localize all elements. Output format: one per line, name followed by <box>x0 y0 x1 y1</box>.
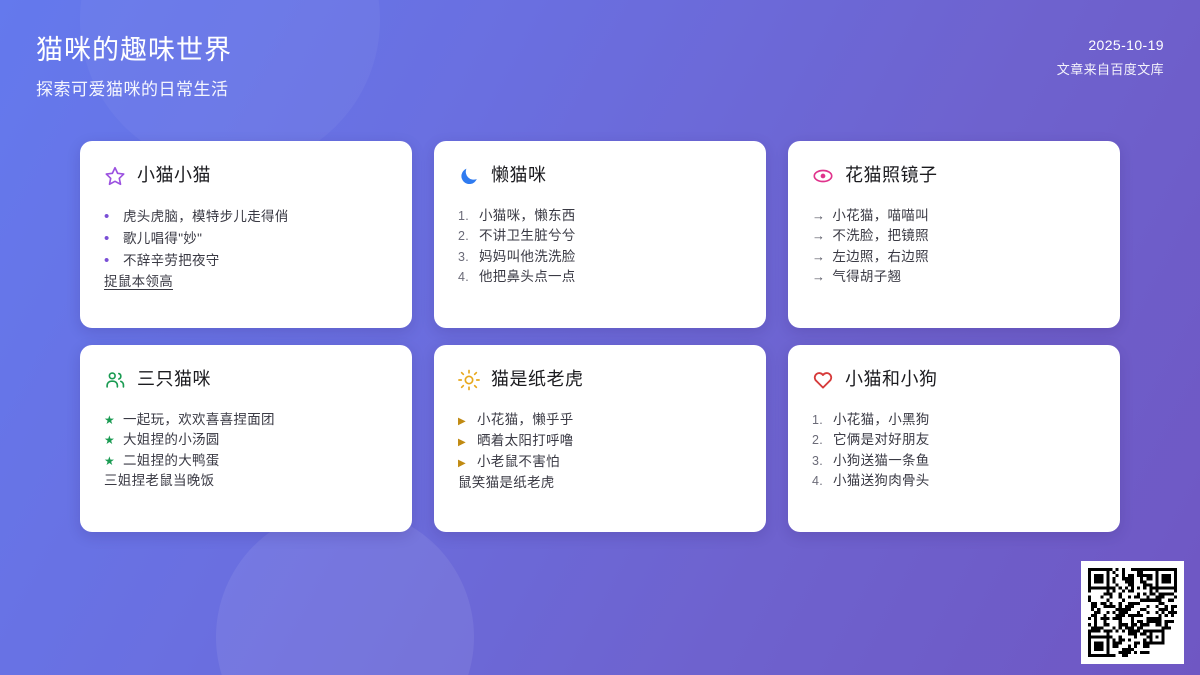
header-title-block: 猫咪的趣味世界 探索可爱猫咪的日常生活 <box>36 32 232 102</box>
list-item-text: 歌儿唱得"妙" <box>123 232 202 246</box>
card-header: 三只猫咪 <box>104 367 388 393</box>
star-icon <box>104 165 126 187</box>
list-marker: ▶ <box>458 438 470 448</box>
list-marker: ★ <box>104 434 116 446</box>
list-item: 4. 小猫送狗肉骨头 <box>812 471 1096 492</box>
moon-icon <box>458 165 480 187</box>
list-item: 1. 小花猫，小黑狗 <box>812 409 1096 430</box>
list-item-text: 小花猫，小黑狗 <box>833 413 930 427</box>
list-item: → 不洗脸，把镜照 <box>812 226 1096 247</box>
list-marker: • <box>104 209 116 224</box>
card-title: 花猫照镜子 <box>845 165 938 187</box>
card-header: 猫是纸老虎 <box>458 367 742 393</box>
list-marker: 3. <box>458 251 472 264</box>
list-marker: → <box>812 229 825 242</box>
list-item-text: 二姐捏的大鸭蛋 <box>123 454 220 468</box>
list-marker: 4. <box>458 271 472 284</box>
list-item-text: 大姐捏的小汤圆 <box>123 433 220 447</box>
list-item: • 虎头虎脑，模特步儿走得俏 <box>104 205 388 227</box>
list-item-text: 小老鼠不害怕 <box>477 455 560 469</box>
card-title: 猫是纸老虎 <box>491 369 584 391</box>
list-marker: → <box>812 209 825 222</box>
list-marker: → <box>812 250 825 263</box>
card-list: • 虎头虎脑，模特步儿走得俏 • 歌儿唱得"妙" • 不辞辛劳把夜守 <box>104 205 388 271</box>
list-marker: 3. <box>812 455 826 468</box>
list-item-text: 小狗送猫一条鱼 <box>833 454 930 468</box>
list-item-text: 小猫送狗肉骨头 <box>833 474 930 488</box>
list-item: → 气得胡子翘 <box>812 267 1096 288</box>
list-marker: 2. <box>812 434 826 447</box>
list-item-text: 不辞辛劳把夜守 <box>123 254 220 268</box>
card-list: ▶ 小花猫，懒乎乎 ▶ 晒着太阳打呼噜 ▶ 小老鼠不害怕 <box>458 409 742 472</box>
card-list: 1. 小花猫，小黑狗 2. 它俩是对好朋友 3. 小狗送猫一条鱼 4. 小猫送狗… <box>812 409 1096 491</box>
content-card[interactable]: 小猫和小狗 1. 小花猫，小黑狗 2. 它俩是对好朋友 3. 小狗送猫一条鱼 4… <box>788 345 1120 532</box>
list-item: 3. 小狗送猫一条鱼 <box>812 450 1096 471</box>
card-footer-text: 三姐捏老鼠当晚饭 <box>104 471 214 488</box>
list-item-text: 晒着太阳打呼噜 <box>477 434 574 448</box>
list-item: 1. 小猫咪，懒东西 <box>458 205 742 226</box>
list-item-text: 它俩是对好朋友 <box>833 433 930 447</box>
card-title: 三只猫咪 <box>137 369 211 391</box>
content-card[interactable]: 懒猫咪 1. 小猫咪，懒东西 2. 不讲卫生脏兮兮 3. 妈妈叫他洗洗脸 4. … <box>434 141 766 328</box>
list-item: ★ 一起玩，欢欢喜喜捏面团 <box>104 409 388 430</box>
list-item-text: 小花猫，懒乎乎 <box>477 413 574 427</box>
list-item: ▶ 小老鼠不害怕 <box>458 451 742 472</box>
list-item-text: 气得胡子翘 <box>832 270 901 284</box>
sun-icon <box>458 369 480 391</box>
list-item: → 左边照，右边照 <box>812 246 1096 267</box>
list-marker: • <box>104 253 116 268</box>
list-item: ★ 大姐捏的小汤圆 <box>104 430 388 451</box>
list-item-text: 不洗脸，把镜照 <box>832 229 929 243</box>
list-marker: 2. <box>458 230 472 243</box>
list-marker: ★ <box>104 414 116 426</box>
header-meta-block: 2025-10-19 文章来自百度文库 <box>1057 32 1164 80</box>
list-item-text: 左边照，右边照 <box>832 250 929 264</box>
card-grid: 小猫小猫 • 虎头虎脑，模特步儿走得俏 • 歌儿唱得"妙" • 不辞辛劳把夜守 … <box>80 141 1120 532</box>
list-marker: 1. <box>812 414 826 427</box>
list-item-text: 虎头虎脑，模特步儿走得俏 <box>123 210 289 224</box>
page-title: 猫咪的趣味世界 <box>36 32 232 68</box>
list-item: • 不辞辛劳把夜守 <box>104 249 388 271</box>
card-footer-text: 鼠笑猫是纸老虎 <box>458 472 555 489</box>
list-item-text: 他把鼻头点一点 <box>479 270 576 284</box>
card-header: 小猫小猫 <box>104 163 388 189</box>
card-list: → 小花猫，喵喵叫 → 不洗脸，把镜照 → 左边照，右边照 → 气得胡子翘 <box>812 205 1096 287</box>
list-marker: 1. <box>458 210 472 223</box>
list-marker: ▶ <box>458 417 470 427</box>
card-header: 花猫照镜子 <box>812 163 1096 189</box>
list-item: 3. 妈妈叫他洗洗脸 <box>458 246 742 267</box>
content-card[interactable]: 三只猫咪 ★ 一起玩，欢欢喜喜捏面团 ★ 大姐捏的小汤圆 ★ 二姐捏的大鸭蛋 三… <box>80 345 412 532</box>
header-date: 2025-10-19 <box>1088 35 1164 56</box>
page-subtitle: 探索可爱猫咪的日常生活 <box>36 78 232 102</box>
content-card[interactable]: 花猫照镜子 → 小花猫，喵喵叫 → 不洗脸，把镜照 → 左边照，右边照 → 气得… <box>788 141 1120 328</box>
page-header: 猫咪的趣味世界 探索可爱猫咪的日常生活 2025-10-19 文章来自百度文库 <box>0 0 1200 136</box>
card-header: 懒猫咪 <box>458 163 742 189</box>
content-card[interactable]: 猫是纸老虎 ▶ 小花猫，懒乎乎 ▶ 晒着太阳打呼噜 ▶ 小老鼠不害怕 鼠笑猫是纸… <box>434 345 766 532</box>
eye-icon <box>812 165 834 187</box>
qr-code-image <box>1088 568 1177 657</box>
list-item-text: 不讲卫生脏兮兮 <box>479 229 576 243</box>
list-item: ▶ 小花猫，懒乎乎 <box>458 409 742 430</box>
content-card[interactable]: 小猫小猫 • 虎头虎脑，模特步儿走得俏 • 歌儿唱得"妙" • 不辞辛劳把夜守 … <box>80 141 412 328</box>
list-item: ▶ 晒着太阳打呼噜 <box>458 430 742 451</box>
card-list: 1. 小猫咪，懒东西 2. 不讲卫生脏兮兮 3. 妈妈叫他洗洗脸 4. 他把鼻头… <box>458 205 742 287</box>
list-item-text: 妈妈叫他洗洗脸 <box>479 250 576 264</box>
card-title: 懒猫咪 <box>491 165 547 187</box>
card-list: ★ 一起玩，欢欢喜喜捏面团 ★ 大姐捏的小汤圆 ★ 二姐捏的大鸭蛋 <box>104 409 388 471</box>
list-item: • 歌儿唱得"妙" <box>104 227 388 249</box>
background-blob-bottom <box>216 508 474 675</box>
list-marker: → <box>812 270 825 283</box>
qr-code[interactable] <box>1081 561 1184 664</box>
card-footer-text: 捉鼠本领高 <box>104 271 173 288</box>
list-marker: 4. <box>812 475 826 488</box>
list-item-text: 小花猫，喵喵叫 <box>832 209 929 223</box>
list-item: 4. 他把鼻头点一点 <box>458 267 742 288</box>
list-item: ★ 二姐捏的大鸭蛋 <box>104 450 388 471</box>
list-item: 2. 不讲卫生脏兮兮 <box>458 226 742 247</box>
card-header: 小猫和小狗 <box>812 367 1096 393</box>
users-icon <box>104 369 126 391</box>
card-title: 小猫和小狗 <box>845 369 938 391</box>
list-marker: • <box>104 231 116 246</box>
list-item-text: 一起玩，欢欢喜喜捏面团 <box>123 413 275 427</box>
card-title: 小猫小猫 <box>137 165 211 187</box>
header-source: 文章来自百度文库 <box>1057 60 1164 80</box>
list-item: → 小花猫，喵喵叫 <box>812 205 1096 226</box>
list-marker: ★ <box>104 455 116 467</box>
heart-icon <box>812 369 834 391</box>
list-item: 2. 它俩是对好朋友 <box>812 430 1096 451</box>
list-item-text: 小猫咪，懒东西 <box>479 209 576 223</box>
list-marker: ▶ <box>458 459 470 469</box>
